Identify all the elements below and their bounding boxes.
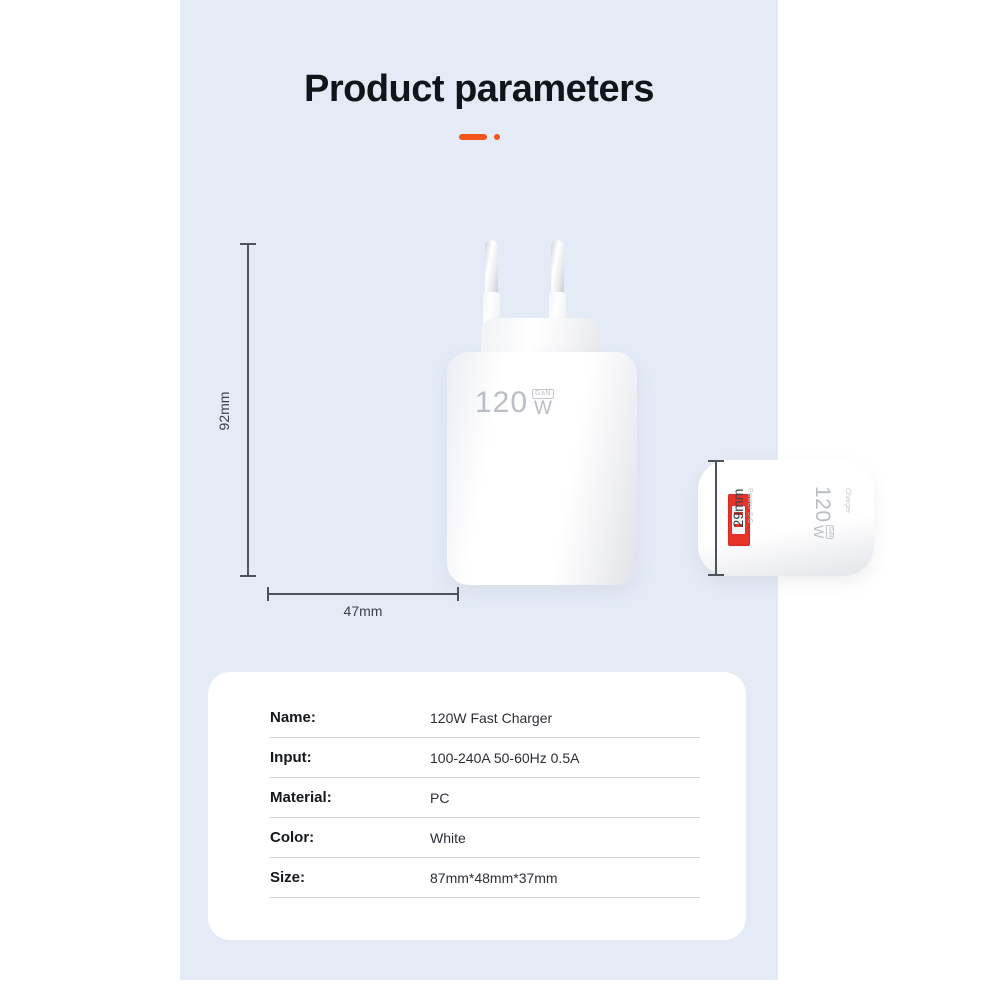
accent-dot xyxy=(494,134,500,140)
table-row: Name: 120W Fast Charger xyxy=(270,698,700,738)
height-dim-label: 92mm xyxy=(216,381,232,441)
table-row: Size: 87mm*48mm*37mm xyxy=(270,858,700,898)
table-row: Input: 100-240A 50-60Hz 0.5A xyxy=(270,738,700,778)
height-dim-line xyxy=(247,243,249,577)
accent-dash xyxy=(459,134,487,140)
spec-value: White xyxy=(430,830,700,846)
spec-label: Size: xyxy=(270,869,430,886)
depth-dim-line xyxy=(715,460,717,576)
charger-top-view: Power 5.0 120 GaN W Charger xyxy=(698,460,874,576)
width-dim-label: 47mm xyxy=(267,603,459,619)
product-parameters-page: Product parameters 120 GaN W xyxy=(0,0,1000,1000)
spec-value: PC xyxy=(430,790,700,806)
usb-port-label: Power 5.0 xyxy=(746,488,753,523)
spec-value: 120W Fast Charger xyxy=(430,710,700,726)
spec-table: Name: 120W Fast Charger Input: 100-240A … xyxy=(270,698,700,898)
spec-card: Name: 120W Fast Charger Input: 100-240A … xyxy=(208,672,746,940)
page-title: Product parameters xyxy=(180,68,778,111)
depth-dim-label: 29mm xyxy=(730,478,746,538)
title-accent-mark xyxy=(180,133,778,141)
spec-label: Color: xyxy=(270,829,430,846)
spec-value: 100-240A 50-60Hz 0.5A xyxy=(430,750,700,766)
depth-dim-cap-bottom xyxy=(708,574,724,576)
height-dim-cap-bottom xyxy=(240,575,256,577)
width-dim-cap-right xyxy=(457,587,459,601)
charger-face-marking: 120 GaN W xyxy=(475,388,554,418)
top-view-charger-label: Charger xyxy=(844,488,851,513)
spec-label: Material: xyxy=(270,789,430,806)
face-unit-letter: W xyxy=(534,399,552,418)
top-unit-letter: W xyxy=(812,525,826,538)
table-row: Color: White xyxy=(270,818,700,858)
gan-badge-small: GaN xyxy=(826,525,834,539)
width-dim-line xyxy=(267,593,459,595)
face-wattage-number: 120 xyxy=(475,388,528,418)
top-view-wattage-marking: 120 GaN W xyxy=(812,486,834,539)
top-wattage-number: 120 xyxy=(812,486,833,523)
spec-value: 87mm*48mm*37mm xyxy=(430,870,700,886)
face-unit-group: GaN W xyxy=(532,389,554,418)
spec-label: Name: xyxy=(270,709,430,726)
charger-body: 120 GaN W xyxy=(447,352,637,585)
table-row: Material: PC xyxy=(270,778,700,818)
charger-front-view: 120 GaN W xyxy=(447,240,637,585)
spec-label: Input: xyxy=(270,749,430,766)
top-unit-group: GaN W xyxy=(812,525,834,539)
